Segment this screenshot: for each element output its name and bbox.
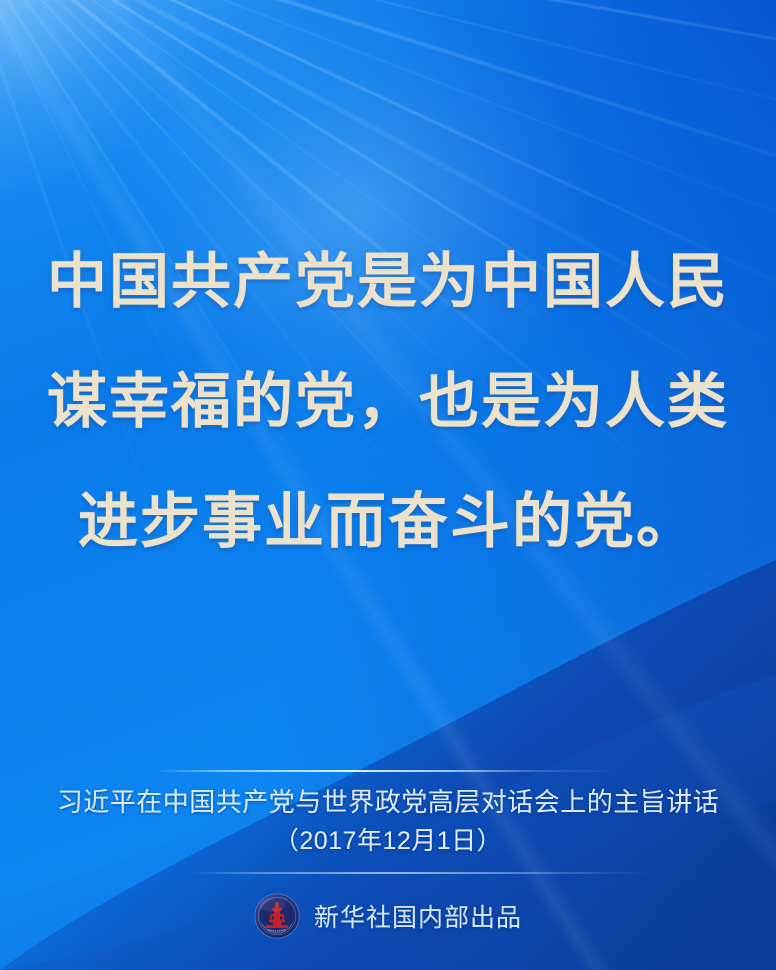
- divider-line-bottom: [188, 872, 658, 874]
- headline-line-2: 谋幸福的党，也是为人类: [0, 342, 776, 462]
- attribution-text: 习近平在中国共产党与世界政党高层对话会上的主旨讲话: [0, 784, 776, 820]
- headline-line-1: 中国共产党是为中国人民: [0, 222, 776, 342]
- divider-line-top: [155, 770, 621, 772]
- headline-line-3: 进步事业而奋斗的党。: [0, 462, 776, 582]
- poster-canvas: 中国共产党是为中国人民 谋幸福的党，也是为人类 进步事业而奋斗的党。 习近平在中…: [0, 0, 776, 970]
- footer-block: 新华社国内部出品: [0, 893, 776, 939]
- headline-block: 中国共产党是为中国人民 谋幸福的党，也是为人类 进步事业而奋斗的党。: [0, 222, 776, 582]
- footer-producer-text: 新华社国内部出品: [314, 898, 522, 934]
- attribution-date: （2017年12月1日）: [0, 824, 776, 858]
- attribution-block: 习近平在中国共产党与世界政党高层对话会上的主旨讲话 （2017年12月1日）: [0, 784, 776, 858]
- xinhua-emblem-icon: [254, 893, 300, 939]
